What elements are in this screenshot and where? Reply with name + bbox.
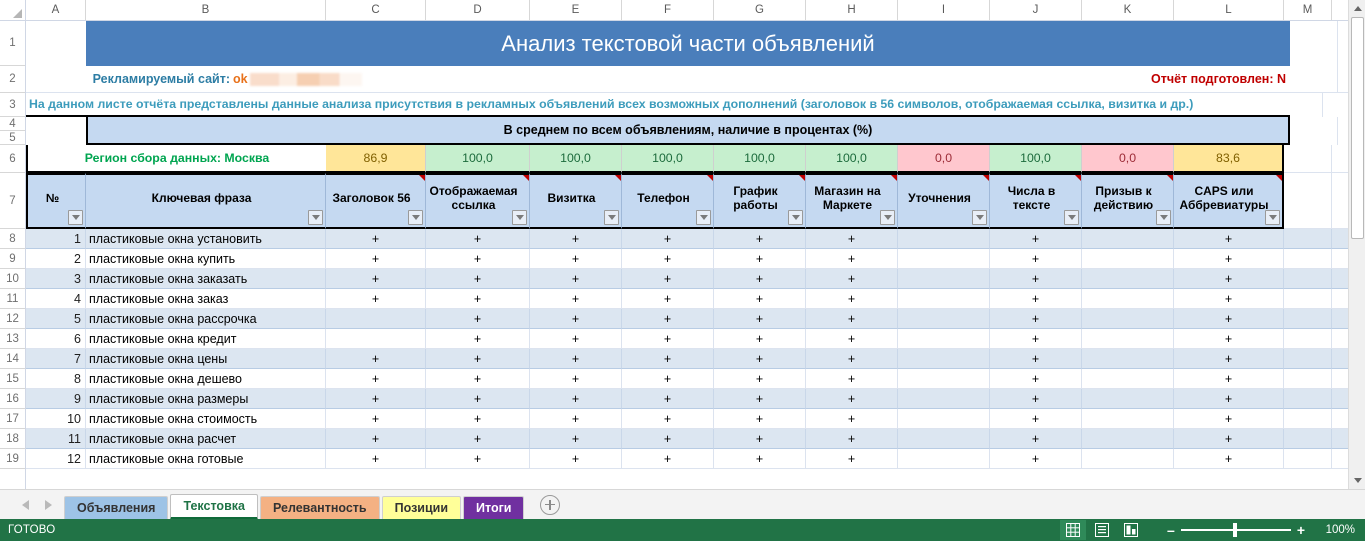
feature-presence-cell[interactable]: + xyxy=(622,429,714,449)
filter-dropdown-icon[interactable] xyxy=(880,210,895,225)
row-header-9[interactable]: 9 xyxy=(0,249,25,269)
table-row[interactable]: 11пластиковые окна расчет++++++++ xyxy=(26,429,1365,449)
cell-m1[interactable] xyxy=(1290,21,1338,66)
feature-presence-cell[interactable]: + xyxy=(990,329,1082,349)
table-row[interactable]: 5пластиковые окна рассрочка+++++++ xyxy=(26,309,1365,329)
cell-spacer-row2[interactable] xyxy=(422,66,982,93)
feature-presence-cell[interactable]: + xyxy=(714,269,806,289)
feature-presence-cell[interactable]: + xyxy=(806,369,898,389)
feature-presence-cell[interactable]: + xyxy=(714,329,806,349)
feature-presence-cell[interactable] xyxy=(1082,369,1174,389)
column-header-c[interactable]: C xyxy=(326,0,426,20)
feature-presence-cell[interactable] xyxy=(326,309,426,329)
keyword-phrase-cell[interactable]: пластиковые окна заказ xyxy=(86,289,326,309)
feature-presence-cell[interactable] xyxy=(898,409,990,429)
row-header-10[interactable]: 10 xyxy=(0,269,25,289)
feature-presence-cell[interactable]: + xyxy=(806,449,898,469)
row-header-8[interactable]: 8 xyxy=(0,229,25,249)
empty-cell-m[interactable] xyxy=(1284,329,1332,349)
feature-presence-cell[interactable]: + xyxy=(530,289,622,309)
region-label: Регион сбора данных: Москва xyxy=(26,145,326,173)
feature-presence-cell[interactable]: + xyxy=(530,329,622,349)
row-1: Анализ текстовой части объявлений xyxy=(26,21,1365,66)
comment-marker-icon xyxy=(1167,175,1173,181)
table-body[interactable]: 1пластиковые окна установить++++++++2пла… xyxy=(26,229,1365,469)
feature-presence-cell[interactable]: + xyxy=(990,309,1082,329)
cell-n3[interactable] xyxy=(1290,93,1323,117)
feature-presence-cell[interactable]: + xyxy=(714,309,806,329)
sheet-tab-label: Итоги xyxy=(476,501,511,515)
keyword-phrase-cell[interactable]: пластиковые окна рассрочка xyxy=(86,309,326,329)
empty-cell-m[interactable] xyxy=(1284,349,1332,369)
row-index-cell[interactable]: 10 xyxy=(26,409,86,429)
row-2: Рекламируемый сайт: ok Отчёт подготовлен… xyxy=(26,66,1365,93)
worksheet-grid[interactable]: Анализ текстовой части объявлений Реклам… xyxy=(26,21,1365,489)
feature-presence-cell[interactable] xyxy=(1082,269,1174,289)
comment-marker-icon xyxy=(615,175,621,181)
feature-presence-cell[interactable]: + xyxy=(326,289,426,309)
advertised-site-value: ok xyxy=(232,66,422,93)
scroll-down-icon[interactable] xyxy=(1349,472,1365,489)
feature-presence-cell[interactable]: + xyxy=(714,369,806,389)
sheet-tab-3[interactable]: Релевантность xyxy=(260,496,380,520)
feature-presence-cell[interactable]: + xyxy=(990,229,1082,249)
add-sheet-icon[interactable] xyxy=(540,495,560,515)
comment-marker-icon xyxy=(523,175,529,181)
row-header-4[interactable]: 4 xyxy=(0,117,25,131)
table-row[interactable]: 4пластиковые окна заказ++++++++ xyxy=(26,289,1365,309)
filter-dropdown-icon[interactable] xyxy=(1156,210,1171,225)
average-percent-cell[interactable]: 100,0 xyxy=(426,145,530,173)
feature-presence-cell[interactable]: + xyxy=(426,289,530,309)
feature-presence-cell[interactable] xyxy=(898,389,990,409)
feature-presence-cell[interactable]: + xyxy=(1174,449,1284,469)
zoom-level-label[interactable]: 100% xyxy=(1321,524,1355,536)
zoom-in-button[interactable]: + xyxy=(1291,522,1311,538)
feature-presence-cell[interactable] xyxy=(898,369,990,389)
feature-presence-cell[interactable]: + xyxy=(1174,349,1284,369)
row-7-table-headers: №Ключевая фразаЗаголовок 56Отображаемая … xyxy=(26,173,1365,229)
feature-presence-cell[interactable]: + xyxy=(426,349,530,369)
sheet-next-icon[interactable] xyxy=(45,500,52,510)
feature-presence-cell[interactable]: + xyxy=(326,449,426,469)
feature-presence-cell[interactable]: + xyxy=(806,409,898,429)
feature-presence-cell[interactable] xyxy=(1082,349,1174,369)
filter-dropdown-icon[interactable] xyxy=(1265,210,1280,225)
column-header-g[interactable]: G xyxy=(714,0,806,20)
zoom-out-button[interactable]: – xyxy=(1161,522,1181,538)
feature-presence-cell[interactable]: + xyxy=(530,309,622,329)
column-title-12: CAPS или Аббревиатуры xyxy=(1174,173,1284,229)
row-index-cell[interactable]: 12 xyxy=(26,449,86,469)
feature-presence-cell[interactable]: + xyxy=(1174,429,1284,449)
feature-presence-cell[interactable] xyxy=(1082,309,1174,329)
comment-marker-icon xyxy=(707,175,713,181)
table-row[interactable]: 2пластиковые окна купить++++++++ xyxy=(26,249,1365,269)
feature-presence-cell[interactable]: + xyxy=(622,349,714,369)
feature-presence-cell[interactable]: + xyxy=(326,389,426,409)
feature-presence-cell[interactable]: + xyxy=(990,349,1082,369)
average-percent-cell[interactable]: 100,0 xyxy=(990,145,1082,173)
feature-presence-cell[interactable]: + xyxy=(806,249,898,269)
comment-marker-icon xyxy=(1075,175,1081,181)
column-title-text: График работы xyxy=(718,184,793,212)
cell-m2[interactable] xyxy=(1290,66,1338,93)
sheet-tab-2[interactable]: Текстовка xyxy=(170,494,258,520)
zoom-thumb[interactable] xyxy=(1233,523,1237,537)
cell-m6[interactable] xyxy=(1284,145,1332,173)
row-header-15[interactable]: 15 xyxy=(0,369,25,389)
row-6-percentages: Регион сбора данных: Москва 86,9100,0100… xyxy=(26,145,1365,173)
sheet-tab-4[interactable]: Позиции xyxy=(382,496,461,520)
feature-presence-cell[interactable]: + xyxy=(806,349,898,369)
empty-cell-m[interactable] xyxy=(1284,429,1332,449)
row-header-7[interactable]: 7 xyxy=(0,173,25,229)
feature-presence-cell[interactable] xyxy=(1082,409,1174,429)
column-title-10: Числа в тексте xyxy=(990,173,1082,229)
feature-presence-cell[interactable] xyxy=(898,289,990,309)
feature-presence-cell[interactable]: + xyxy=(990,369,1082,389)
column-header-b[interactable]: B xyxy=(86,0,326,20)
feature-presence-cell[interactable]: + xyxy=(1174,289,1284,309)
column-header-m[interactable]: M xyxy=(1284,0,1332,20)
feature-presence-cell[interactable]: + xyxy=(1174,409,1284,429)
feature-presence-cell[interactable] xyxy=(1082,389,1174,409)
row-header-16[interactable]: 16 xyxy=(0,389,25,409)
feature-presence-cell[interactable]: + xyxy=(714,289,806,309)
table-header-cells: №Ключевая фразаЗаголовок 56Отображаемая … xyxy=(26,173,1284,229)
feature-presence-cell[interactable] xyxy=(326,329,426,349)
cell-a1[interactable] xyxy=(26,21,86,66)
zoom-track[interactable] xyxy=(1181,529,1291,531)
column-title-7: График работы xyxy=(714,173,806,229)
feature-presence-cell[interactable]: + xyxy=(990,289,1082,309)
column-header-k[interactable]: K xyxy=(1082,0,1174,20)
empty-cell-m[interactable] xyxy=(1284,289,1332,309)
zoom-slider[interactable]: – + xyxy=(1161,522,1311,538)
feature-presence-cell[interactable] xyxy=(1082,329,1174,349)
feature-presence-cell[interactable] xyxy=(1082,449,1174,469)
table-row[interactable]: 6пластиковые окна кредит+++++++ xyxy=(26,329,1365,349)
feature-presence-cell[interactable]: + xyxy=(990,449,1082,469)
advertised-site-label: Рекламируемый сайт: xyxy=(86,66,232,93)
table-row[interactable]: 8пластиковые окна дешево++++++++ xyxy=(26,369,1365,389)
feature-presence-cell[interactable]: + xyxy=(622,269,714,289)
row-header-6[interactable]: 6 xyxy=(0,145,25,173)
row-index-cell[interactable]: 11 xyxy=(26,429,86,449)
status-bar-right: – + 100% xyxy=(1060,520,1365,540)
keyword-phrase-cell[interactable]: пластиковые окна купить xyxy=(86,249,326,269)
row-header-3[interactable]: 3 xyxy=(0,93,25,117)
feature-presence-cell[interactable]: + xyxy=(530,409,622,429)
feature-presence-cell[interactable]: + xyxy=(530,249,622,269)
sheet-nav-arrows[interactable] xyxy=(0,500,64,510)
feature-presence-cell[interactable] xyxy=(898,249,990,269)
vertical-scroll-thumb[interactable] xyxy=(1351,17,1364,239)
average-percent-cell[interactable]: 100,0 xyxy=(714,145,806,173)
row-header-12[interactable]: 12 xyxy=(0,309,25,329)
feature-presence-cell[interactable]: + xyxy=(326,429,426,449)
comment-marker-icon xyxy=(419,175,425,181)
feature-presence-cell[interactable]: + xyxy=(1174,249,1284,269)
empty-cell-m[interactable] xyxy=(1284,369,1332,389)
feature-presence-cell[interactable]: + xyxy=(714,229,806,249)
feature-presence-cell[interactable]: + xyxy=(1174,309,1284,329)
feature-presence-cell[interactable]: + xyxy=(426,229,530,249)
feature-presence-cell[interactable]: + xyxy=(622,249,714,269)
filter-dropdown-icon[interactable] xyxy=(512,210,527,225)
feature-presence-cell[interactable]: + xyxy=(990,249,1082,269)
row-index-cell[interactable]: 5 xyxy=(26,309,86,329)
page-title: Анализ текстовой части объявлений xyxy=(86,21,1290,66)
column-title-text: № xyxy=(46,191,59,205)
feature-presence-cell[interactable]: + xyxy=(326,409,426,429)
filter-dropdown-icon[interactable] xyxy=(68,210,83,225)
feature-presence-cell[interactable]: + xyxy=(714,389,806,409)
feature-presence-cell[interactable]: + xyxy=(326,269,426,289)
average-percent-cell[interactable]: 0,0 xyxy=(1082,145,1174,173)
feature-presence-cell[interactable]: + xyxy=(426,409,530,429)
column-title-text: Визитка xyxy=(548,191,596,205)
cell-a4[interactable] xyxy=(26,117,86,145)
column-header-d[interactable]: D xyxy=(426,0,530,20)
cell-a2[interactable] xyxy=(26,66,86,93)
average-percent-cell[interactable]: 100,0 xyxy=(530,145,622,173)
feature-presence-cell[interactable] xyxy=(898,229,990,249)
feature-presence-cell[interactable]: + xyxy=(990,389,1082,409)
feature-presence-cell[interactable]: + xyxy=(530,229,622,249)
filter-dropdown-icon[interactable] xyxy=(604,210,619,225)
feature-presence-cell[interactable] xyxy=(1082,249,1174,269)
keyword-phrase-cell[interactable]: пластиковые окна расчет xyxy=(86,429,326,449)
empty-cell-m[interactable] xyxy=(1284,249,1332,269)
feature-presence-cell[interactable]: + xyxy=(622,289,714,309)
average-percent-cell[interactable]: 83,6 xyxy=(1174,145,1284,173)
vertical-scrollbar[interactable] xyxy=(1348,0,1365,489)
cell-m7[interactable] xyxy=(1284,173,1332,229)
comment-marker-icon xyxy=(983,175,989,181)
column-header-j[interactable]: J xyxy=(990,0,1082,20)
column-title-4: Отображаемая ссылка xyxy=(426,173,530,229)
feature-presence-cell[interactable]: + xyxy=(426,449,530,469)
keyword-phrase-cell[interactable]: пластиковые окна кредит xyxy=(86,329,326,349)
feature-presence-cell[interactable]: + xyxy=(990,269,1082,289)
feature-presence-cell[interactable] xyxy=(1082,429,1174,449)
feature-presence-cell[interactable]: + xyxy=(326,369,426,389)
row-index-cell[interactable]: 2 xyxy=(26,249,86,269)
feature-presence-cell[interactable]: + xyxy=(1174,369,1284,389)
feature-presence-cell[interactable]: + xyxy=(714,249,806,269)
feature-presence-cell[interactable] xyxy=(898,309,990,329)
feature-presence-cell[interactable]: + xyxy=(1174,229,1284,249)
normal-view-icon[interactable] xyxy=(1060,520,1086,540)
empty-cell-m[interactable] xyxy=(1284,389,1332,409)
table-row[interactable]: 9пластиковые окна размеры++++++++ xyxy=(26,389,1365,409)
average-percent-cell[interactable]: 0,0 xyxy=(898,145,990,173)
row-index-cell[interactable]: 6 xyxy=(26,329,86,349)
row-header-18[interactable]: 18 xyxy=(0,429,25,449)
status-bar: ГОТОВО – + 100% xyxy=(0,519,1365,541)
keyword-phrase-cell[interactable]: пластиковые окна готовые xyxy=(86,449,326,469)
table-row[interactable]: 12пластиковые окна готовые++++++++ xyxy=(26,449,1365,469)
feature-presence-cell[interactable]: + xyxy=(806,269,898,289)
row-index-cell[interactable]: 9 xyxy=(26,389,86,409)
filter-dropdown-icon[interactable] xyxy=(1064,210,1079,225)
feature-presence-cell[interactable]: + xyxy=(714,349,806,369)
feature-presence-cell[interactable]: + xyxy=(426,389,530,409)
feature-presence-cell[interactable] xyxy=(1082,289,1174,309)
feature-presence-cell[interactable]: + xyxy=(622,369,714,389)
column-title-text: Магазин на Маркете xyxy=(810,184,885,212)
column-title-8: Магазин на Маркете xyxy=(806,173,898,229)
row-4-5-merged: В среднем по всем объявлениям, наличие в… xyxy=(26,117,1365,145)
average-percent-cell[interactable]: 86,9 xyxy=(326,145,426,173)
table-row[interactable]: 3пластиковые окна заказать++++++++ xyxy=(26,269,1365,289)
site-value-text: ok xyxy=(233,72,248,86)
percent-cells: 86,9100,0100,0100,0100,0100,00,0100,00,0… xyxy=(326,145,1284,173)
column-header-h[interactable]: H xyxy=(806,0,898,20)
feature-presence-cell[interactable]: + xyxy=(426,429,530,449)
sheet-tab-5[interactable]: Итоги xyxy=(463,496,524,520)
feature-presence-cell[interactable]: + xyxy=(990,429,1082,449)
feature-presence-cell[interactable]: + xyxy=(426,309,530,329)
empty-cell-m[interactable] xyxy=(1284,449,1332,469)
feature-presence-cell[interactable]: + xyxy=(530,369,622,389)
column-title-text: Телефон xyxy=(637,191,689,205)
row-3: На данном листе отчёта представлены данн… xyxy=(26,93,1365,117)
feature-presence-cell[interactable]: + xyxy=(530,429,622,449)
filter-dropdown-icon[interactable] xyxy=(788,210,803,225)
table-row[interactable]: 7пластиковые окна цены++++++++ xyxy=(26,349,1365,369)
row-header-13[interactable]: 13 xyxy=(0,329,25,349)
keyword-phrase-cell[interactable]: пластиковые окна стоимость xyxy=(86,409,326,429)
sheet-tab-label: Объявления xyxy=(77,501,155,515)
column-title-1: № xyxy=(26,173,86,229)
scroll-up-icon[interactable] xyxy=(1349,0,1365,17)
row-header-2[interactable]: 2 xyxy=(0,66,25,93)
keyword-phrase-cell[interactable]: пластиковые окна заказать xyxy=(86,269,326,289)
column-header-e[interactable]: E xyxy=(530,0,622,20)
feature-presence-cell[interactable] xyxy=(1082,229,1174,249)
feature-presence-cell[interactable]: + xyxy=(1174,269,1284,289)
feature-presence-cell[interactable]: + xyxy=(622,229,714,249)
empty-cell-m[interactable] xyxy=(1284,269,1332,289)
feature-presence-cell[interactable]: + xyxy=(714,449,806,469)
feature-presence-cell[interactable] xyxy=(898,449,990,469)
average-percent-cell[interactable]: 100,0 xyxy=(622,145,714,173)
row-header-11[interactable]: 11 xyxy=(0,289,25,309)
sheet-tab-1[interactable]: Объявления xyxy=(64,496,168,520)
feature-presence-cell[interactable]: + xyxy=(622,449,714,469)
feature-presence-cell[interactable]: + xyxy=(326,349,426,369)
column-header-a[interactable]: A xyxy=(26,0,86,20)
feature-presence-cell[interactable]: + xyxy=(326,229,426,249)
feature-presence-cell[interactable]: + xyxy=(806,289,898,309)
feature-presence-cell[interactable]: + xyxy=(326,249,426,269)
row-header-19[interactable]: 19 xyxy=(0,449,25,469)
row-header-5[interactable]: 5 xyxy=(0,131,25,145)
row-index-cell[interactable]: 8 xyxy=(26,369,86,389)
empty-cell-m[interactable] xyxy=(1284,409,1332,429)
empty-cell-m[interactable] xyxy=(1284,229,1332,249)
row-index-cell[interactable]: 7 xyxy=(26,349,86,369)
feature-presence-cell[interactable]: + xyxy=(426,369,530,389)
page-layout-view-icon[interactable] xyxy=(1089,520,1115,540)
feature-presence-cell[interactable]: + xyxy=(714,429,806,449)
select-all-corner[interactable] xyxy=(0,0,26,20)
feature-presence-cell[interactable] xyxy=(898,429,990,449)
average-percent-cell[interactable]: 100,0 xyxy=(806,145,898,173)
row-index-cell[interactable]: 1 xyxy=(26,229,86,249)
table-row[interactable]: 10пластиковые окна стоимость++++++++ xyxy=(26,409,1365,429)
keyword-phrase-cell[interactable]: пластиковые окна размеры xyxy=(86,389,326,409)
empty-cell-m[interactable] xyxy=(1284,309,1332,329)
feature-presence-cell[interactable]: + xyxy=(806,429,898,449)
column-header-i[interactable]: I xyxy=(898,0,990,20)
feature-presence-cell[interactable]: + xyxy=(530,449,622,469)
column-header-f[interactable]: F xyxy=(622,0,714,20)
cell-m4[interactable] xyxy=(1290,117,1338,145)
feature-presence-cell[interactable]: + xyxy=(990,409,1082,429)
feature-presence-cell[interactable]: + xyxy=(426,269,530,289)
feature-presence-cell[interactable]: + xyxy=(1174,389,1284,409)
feature-presence-cell[interactable]: + xyxy=(806,329,898,349)
column-title-text: Числа в тексте xyxy=(994,184,1069,212)
filter-dropdown-icon[interactable] xyxy=(308,210,323,225)
feature-presence-cell[interactable]: + xyxy=(530,269,622,289)
column-title-text: Призыв к действию xyxy=(1086,184,1161,212)
page-break-view-icon[interactable] xyxy=(1118,520,1144,540)
feature-presence-cell[interactable] xyxy=(898,329,990,349)
feature-presence-cell[interactable] xyxy=(898,349,990,369)
feature-presence-cell[interactable]: + xyxy=(622,309,714,329)
feature-presence-cell[interactable]: + xyxy=(426,249,530,269)
feature-presence-cell[interactable]: + xyxy=(622,409,714,429)
keyword-phrase-cell[interactable]: пластиковые окна установить xyxy=(86,229,326,249)
comment-marker-icon xyxy=(1276,175,1282,181)
row-index-cell[interactable]: 3 xyxy=(26,269,86,289)
feature-presence-cell[interactable]: + xyxy=(622,389,714,409)
feature-presence-cell[interactable]: + xyxy=(426,329,530,349)
row-header-17[interactable]: 17 xyxy=(0,409,25,429)
sheet-tab-label: Позиции xyxy=(395,501,448,515)
row-index-cell[interactable]: 4 xyxy=(26,289,86,309)
filter-dropdown-icon[interactable] xyxy=(408,210,423,225)
feature-presence-cell[interactable]: + xyxy=(530,389,622,409)
column-header-l[interactable]: L xyxy=(1174,0,1284,20)
column-title-text: Заголовок 56 xyxy=(332,191,410,205)
column-title-2: Ключевая фраза xyxy=(86,173,326,229)
status-state: ГОТОВО xyxy=(0,524,55,536)
row-header-14[interactable]: 14 xyxy=(0,349,25,369)
feature-presence-cell[interactable]: + xyxy=(806,229,898,249)
feature-presence-cell[interactable] xyxy=(898,269,990,289)
table-row[interactable]: 1пластиковые окна установить++++++++ xyxy=(26,229,1365,249)
feature-presence-cell[interactable]: + xyxy=(622,329,714,349)
feature-presence-cell[interactable]: + xyxy=(714,409,806,429)
feature-presence-cell[interactable]: + xyxy=(806,309,898,329)
feature-presence-cell[interactable]: + xyxy=(1174,329,1284,349)
keyword-phrase-cell[interactable]: пластиковые окна дешево xyxy=(86,369,326,389)
filter-dropdown-icon[interactable] xyxy=(696,210,711,225)
keyword-phrase-cell[interactable]: пластиковые окна цены xyxy=(86,349,326,369)
spreadsheet-window: A B C D E F G H I J K L M 12345678910111… xyxy=(0,0,1365,541)
sheet-prev-icon[interactable] xyxy=(22,500,29,510)
row-header-1[interactable]: 1 xyxy=(0,21,25,66)
feature-presence-cell[interactable]: + xyxy=(530,349,622,369)
filter-dropdown-icon[interactable] xyxy=(972,210,987,225)
feature-presence-cell[interactable]: + xyxy=(806,389,898,409)
